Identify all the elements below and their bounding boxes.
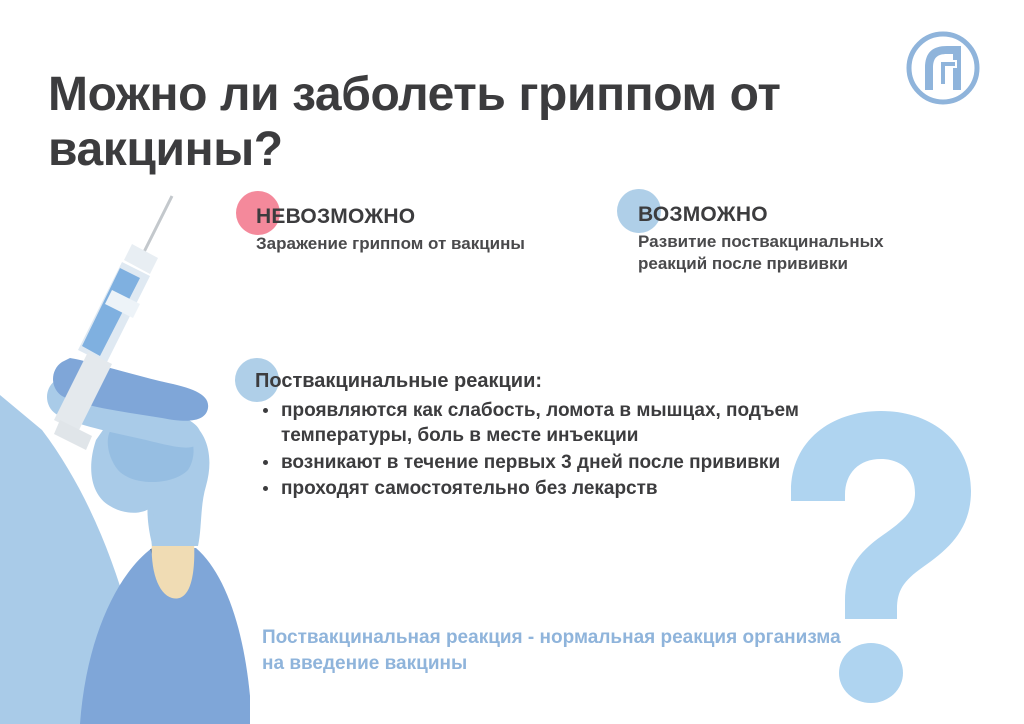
- sleeve-seam-accent: [150, 549, 176, 580]
- syringe-plunger-rod: [54, 352, 112, 432]
- syringe-needle: [144, 196, 172, 252]
- callout-impossible-body: Заражение гриппом от вакцины: [256, 233, 526, 255]
- list-item: возникают в течение первых 3 дней после …: [255, 450, 875, 475]
- bullet-dot-icon: [263, 408, 268, 413]
- bullet-dot-icon: [263, 486, 268, 491]
- syringe-hub: [124, 244, 158, 274]
- syringe-graduation-ring: [105, 290, 140, 318]
- syringe-liquid: [82, 268, 140, 356]
- infographic-poster: Можно ли заболеть гриппом от вакцины? НЕ…: [0, 0, 1024, 724]
- callout-impossible-heading: НЕВОЗМОЖНО: [256, 205, 526, 229]
- callout-possible-body: Развитие поствакцинальных реакций после …: [638, 231, 908, 276]
- circular-monogram-logo: [905, 30, 981, 106]
- background-shoulder-shape: [0, 395, 150, 724]
- reactions-heading: Поствакцинальные реакции:: [255, 370, 875, 393]
- list-item-text: возникают в течение первых 3 дней после …: [281, 452, 780, 473]
- glove-palm: [91, 411, 209, 546]
- syringe-barrel: [78, 262, 150, 364]
- footnote-text: Поствакцинальная реакция - нормальная ре…: [262, 625, 862, 676]
- bullet-dot-icon: [263, 460, 268, 465]
- list-item-text: проходят самостоятельно без лекарств: [281, 478, 658, 499]
- glove-finger-upper: [53, 358, 208, 421]
- page-title: Можно ли заболеть гриппом от вакцины?: [48, 68, 878, 177]
- glove-finger-lower: [47, 376, 201, 448]
- list-item: проявляются как слабость, ломота в мышца…: [255, 398, 875, 449]
- reactions-list: проявляются как слабость, ломота в мышца…: [255, 398, 875, 501]
- list-item: проходят самостоятельно без лекарств: [255, 476, 875, 501]
- glove-cuff: [147, 498, 198, 544]
- callout-possible: ВОЗМОЖНО Развитие поствакцинальных реакц…: [638, 203, 908, 276]
- syringe-plunger-flange: [54, 420, 92, 450]
- callout-impossible: НЕВОЗМОЖНО Заражение гриппом от вакцины: [256, 205, 526, 255]
- callout-possible-heading: ВОЗМОЖНО: [638, 203, 908, 227]
- list-item-text: проявляются как слабость, ломота в мышца…: [281, 400, 799, 446]
- wrist-skin: [152, 540, 195, 599]
- sleeve-shape: [80, 548, 250, 724]
- sleeve-seam-accent-right: [176, 549, 192, 578]
- reactions-block: Поствакцинальные реакции: проявляются ка…: [255, 370, 875, 502]
- glove-palm-shading: [108, 418, 194, 483]
